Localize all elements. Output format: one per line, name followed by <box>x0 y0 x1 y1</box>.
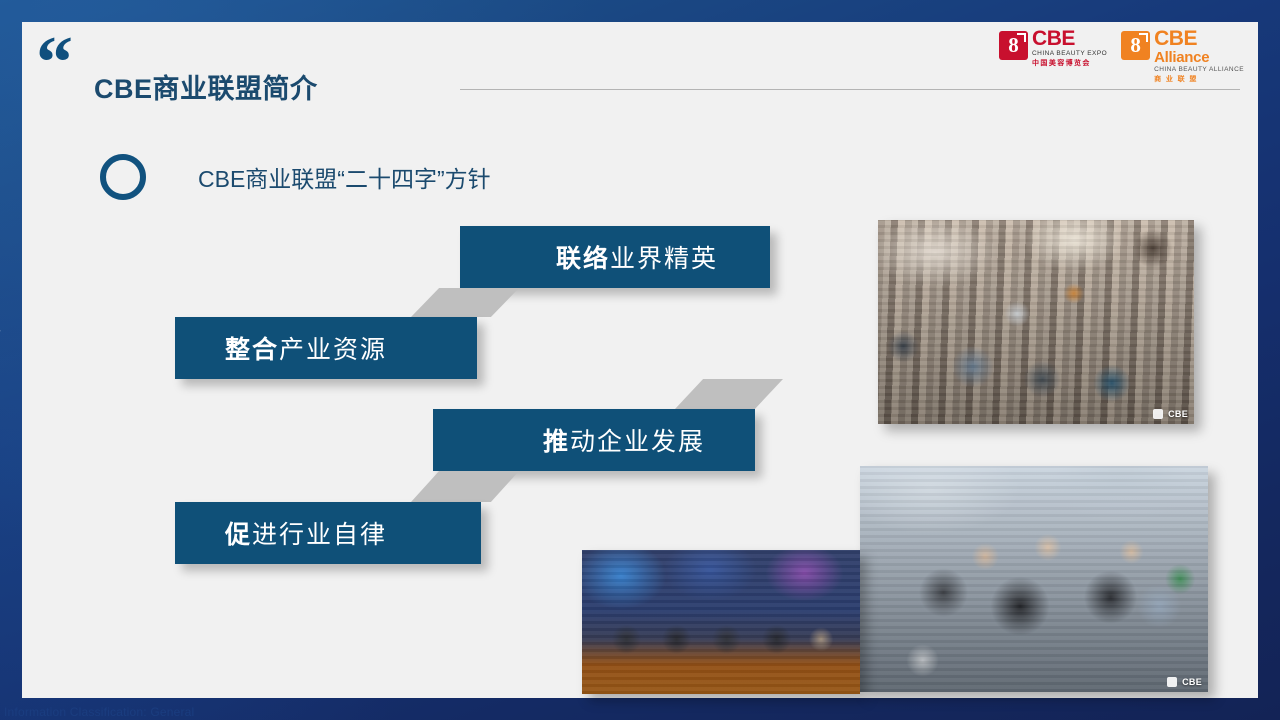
photo-expo-visitors-watermark: CBE <box>1167 677 1202 687</box>
photo-expo-visitors: CBE <box>860 466 1208 692</box>
photo-panel-guests <box>582 550 860 694</box>
photo-expo-visitors-image <box>860 466 1208 692</box>
step-box-4-bold: 促 <box>225 515 252 551</box>
watermark-mark-icon <box>1153 409 1163 419</box>
step-box-1: 联络业界精英 <box>460 226 770 288</box>
footer-classification: Information Classification: General <box>4 705 194 719</box>
slide-card: “ CBE商业联盟简介 8 CBE CHINA BEAUTY EXPO 中国美容… <box>22 22 1258 698</box>
step-box-4: 促进行业自律 <box>175 502 481 564</box>
step-box-1-bold: 联络 <box>556 239 610 275</box>
photo-audience-watermark: CBE <box>1153 409 1188 419</box>
step-box-2-bold: 整合 <box>225 330 279 366</box>
step-box-2-rest: 产业资源 <box>279 330 387 366</box>
photo-panel-guests-image <box>582 550 860 694</box>
step-box-4-rest: 进行业自律 <box>252 515 387 551</box>
step-box-2: 整合产业资源 <box>175 317 477 379</box>
photo-audience-image <box>878 220 1194 424</box>
connector-arrow-1 <box>411 288 519 317</box>
step-box-1-rest: 业界精英 <box>610 239 718 275</box>
step-box-3: 推动企业发展 <box>433 409 755 471</box>
photo-audience: CBE <box>878 220 1194 424</box>
step-box-3-rest: 动企业发展 <box>570 422 705 458</box>
connector-arrow-2 <box>675 379 783 409</box>
slide-root: “ CBE商业联盟简介 8 CBE CHINA BEAUTY EXPO 中国美容… <box>0 0 1280 720</box>
step-box-3-bold: 推 <box>543 422 570 458</box>
watermark-mark-icon <box>1167 677 1177 687</box>
connector-arrow-3 <box>411 471 519 502</box>
